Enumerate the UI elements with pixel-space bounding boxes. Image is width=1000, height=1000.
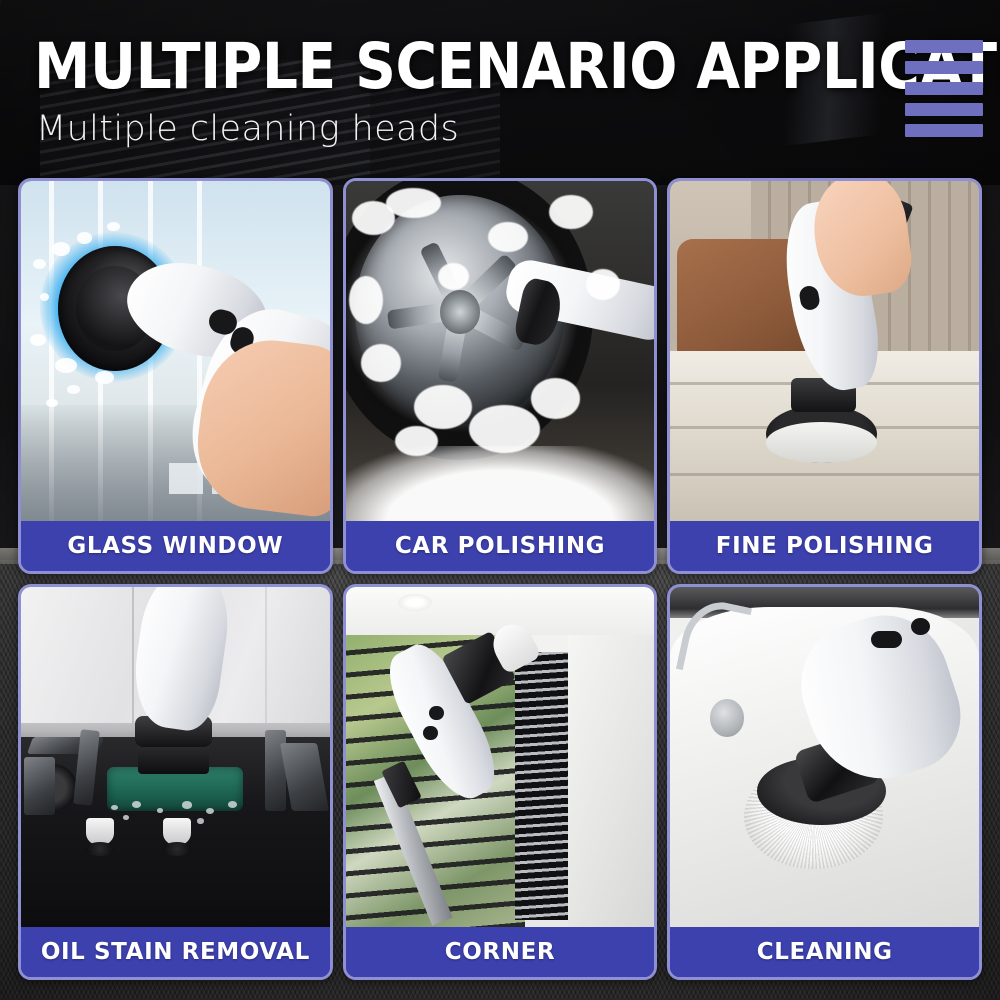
scenario-label-oil-stain-removal: OIL STAIN REMOVAL: [21, 927, 330, 977]
page-subtitle: Multiple cleaning heads: [36, 108, 459, 150]
scenario-card-oil-stain-removal[interactable]: OIL STAIN REMOVAL: [18, 584, 333, 980]
scenario-label-car-polishing: CAR POLISHING: [346, 521, 655, 571]
scenario-card-glass-window[interactable]: GLASS WINDOW: [18, 178, 333, 574]
scenario-card-cleaning[interactable]: CLEANING: [667, 584, 982, 980]
deco-bar: [905, 61, 983, 74]
deco-bar: [905, 82, 983, 95]
scenario-card-fine-polishing[interactable]: FINE POLISHING: [667, 178, 982, 574]
deco-bar: [905, 40, 983, 53]
scenario-label-glass-window: GLASS WINDOW: [21, 521, 330, 571]
page-title: MULTIPLE SCENARIO APPLICATIONS: [34, 36, 1000, 98]
scenario-image-glass-window: [21, 181, 330, 521]
scenario-card-car-polishing[interactable]: CAR POLISHING: [343, 178, 658, 574]
scenario-image-car-polishing: [346, 181, 655, 521]
scenario-image-corner: [346, 587, 655, 927]
scenario-label-corner: CORNER: [346, 927, 655, 977]
deco-bar: [905, 103, 983, 116]
scenario-image-cleaning: [670, 587, 979, 927]
scenario-image-fine-polishing: [670, 181, 979, 521]
scenario-card-corner[interactable]: CORNER: [343, 584, 658, 980]
scenario-label-cleaning: CLEANING: [670, 927, 979, 977]
scenario-image-oil-stain-removal: [21, 587, 330, 927]
scenario-label-fine-polishing: FINE POLISHING: [670, 521, 979, 571]
striped-bars-icon: [905, 40, 983, 137]
scenario-grid: GLASS WINDOW: [18, 178, 982, 980]
deco-bar: [905, 124, 983, 137]
